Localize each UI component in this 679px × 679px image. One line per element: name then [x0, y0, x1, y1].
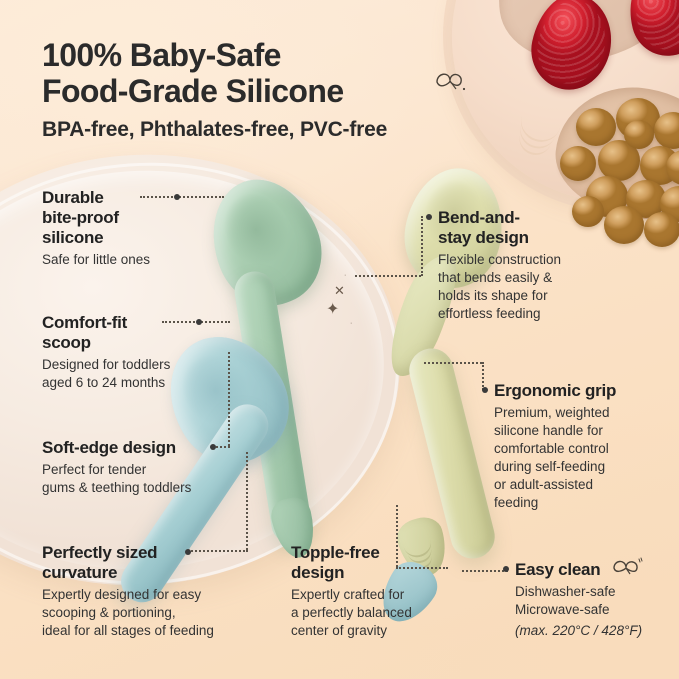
callout-body-topple-free: Expertly crafted for a perfectly balance… [291, 586, 466, 640]
page-subtitle: BPA-free, Phthalates-free, PVC-free [42, 118, 562, 142]
page-title: 100% Baby-Safe Food-Grade Silicone [42, 38, 562, 110]
callout-title-durable: Durable bite-proof silicone [42, 188, 212, 248]
callout-bullet-durable [174, 194, 180, 200]
callout-bullet-bend-and-stay [426, 214, 432, 220]
callout-body-comfort: Designed for toddlers aged 6 to 24 month… [42, 356, 242, 392]
callout-topple-free: Topple-free design Expertly crafted for … [291, 543, 466, 640]
callout-title-topple-free: Topple-free design [291, 543, 466, 583]
callout-title-comfort: Comfort-fit scoop [42, 313, 242, 353]
callout-title-easy-clean: Easy clean [515, 560, 679, 580]
callout-bend-and-stay: Bend-and- stay design Flexible construct… [438, 208, 613, 323]
callout-perfectly-sized: Perfectly sized curvature Expertly desig… [42, 543, 272, 640]
callout-body-perfectly-sized: Expertly designed for easy scooping & po… [42, 586, 272, 640]
callout-durable: Durable bite-proof silicone Safe for lit… [42, 188, 212, 269]
callout-body-durable: Safe for little ones [42, 251, 212, 269]
callout-title-soft-edge: Soft-edge design [42, 438, 257, 458]
callout-ergonomic-grip: Ergonomic grip Premium, weighted silicon… [494, 381, 674, 513]
callout-title-perfectly-sized: Perfectly sized curvature [42, 543, 272, 583]
header: 100% Baby-Safe Food-Grade Silicone BPA-f… [42, 38, 562, 142]
callout-comfort-fit: Comfort-fit scoop Designed for toddlers … [42, 313, 242, 392]
callout-bullet-ergonomic-grip [482, 387, 488, 393]
callout-bullet-soft-edge [210, 444, 216, 450]
callout-bullet-perfectly-sized [185, 549, 191, 555]
sparkle-icon: · ✕ ✦ · [322, 272, 374, 330]
callout-bullet-easy-clean [503, 566, 509, 572]
title-line-1: 100% Baby-Safe [42, 37, 281, 73]
callout-easy-clean: Easy clean Dishwasher-safe Microwave-saf… [515, 560, 679, 640]
infographic-canvas: · ✕ ✦ · 100% Baby-Safe Food-Grade S [0, 0, 679, 679]
callout-body-easy-clean-temp: (max. 220°C / 428°F) [515, 622, 679, 640]
bow-icon [611, 556, 643, 580]
callout-body-bend-and-stay: Flexible construction that bends easily … [438, 251, 613, 323]
callout-soft-edge: Soft-edge design Perfect for tender gums… [42, 438, 257, 497]
callout-title-bend-and-stay: Bend-and- stay design [438, 208, 613, 248]
callout-title-ergonomic-grip: Ergonomic grip [494, 381, 674, 401]
callout-body-ergonomic-grip: Premium, weighted silicone handle for co… [494, 404, 674, 512]
bow-icon [434, 69, 468, 95]
callout-body-soft-edge: Perfect for tender gums & teething toddl… [42, 461, 257, 497]
callout-body-easy-clean: Dishwasher-safe Microwave-safe [515, 583, 679, 619]
callout-bullet-comfort [196, 319, 202, 325]
title-line-2: Food-Grade Silicone [42, 73, 344, 109]
